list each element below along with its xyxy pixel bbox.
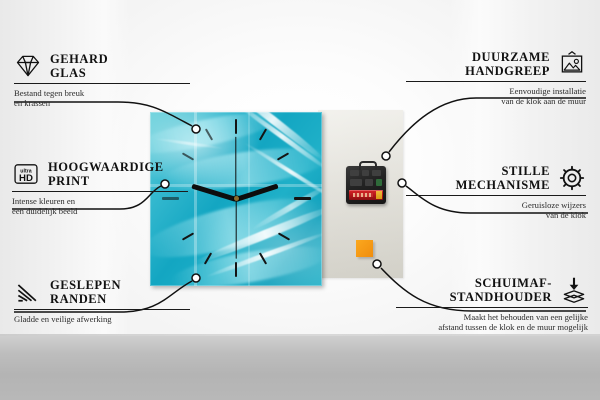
callout-geslepen-randen: GESLEPEN RANDEN Gladde en veilige afwerk… [14, 278, 190, 324]
callout-sub-line2: afstand tussen de klok en de muur mogeli… [396, 322, 588, 332]
callout-sub-line1: Geruisloze wijzers [406, 200, 586, 210]
callout-header-gehard-glas: GEHARD GLAS [14, 52, 190, 80]
hour-marker-6 [235, 262, 237, 277]
callout-header-geslepen-randen: GESLEPEN RANDEN [14, 278, 190, 306]
callout-duurzame-handgreep: DUURZAME HANDGREEP Eenvoudige installati… [406, 50, 586, 107]
callout-hoogwaardige-print: ultra HD HOOGWAARDIGE PRINT Intense kleu… [12, 160, 188, 217]
callout-title-line2: MECHANISME [456, 178, 550, 192]
callout-sub-line2: en krassen [14, 98, 190, 108]
callout-title-line1: STILLE [456, 164, 550, 178]
callout-stille-mechanisme: STILLE MECHANISME Geruisloze wijzers van… [406, 164, 586, 221]
glass-reflection-vertical [194, 112, 197, 286]
clock-mechanism-box [346, 166, 386, 204]
clock-hands-hub [234, 196, 239, 201]
second-hand [235, 199, 236, 259]
callout-sub-line1: Bestand tegen breuk [14, 88, 190, 98]
callout-title-line2: GLAS [50, 66, 108, 80]
callout-rule [14, 83, 190, 84]
callout-rule [12, 191, 188, 192]
callout-rule [14, 309, 190, 310]
ultra-hd-icon-bottom-text: HD [19, 173, 33, 184]
gear-icon [558, 164, 586, 192]
callout-title-line2: STANDHOUDER [450, 290, 552, 304]
callout-sub-line2: van de klok [406, 210, 586, 220]
callout-header-hoogwaardige-print: ultra HD HOOGWAARDIGE PRINT [12, 160, 188, 188]
foam-spacer [356, 240, 373, 257]
callout-title-line1: SCHUIMAF- [450, 276, 552, 290]
callout-header-stille-mechanisme: STILLE MECHANISME [406, 164, 586, 192]
callout-rule [396, 307, 588, 308]
ultra-hd-icon: ultra HD [12, 160, 40, 188]
callout-header-duurzame-handgreep: DUURZAME HANDGREEP [406, 50, 586, 78]
hour-marker-4 [278, 232, 290, 240]
hour-marker-12 [235, 119, 237, 134]
callout-title-line1: GESLEPEN [50, 278, 121, 292]
hanging-hook [359, 161, 377, 170]
callout-sub-line2: een duidelijk beeld [12, 206, 188, 216]
callout-sub-line1: Gladde en veilige afwerking [14, 314, 190, 324]
picture-frame-icon [558, 50, 586, 78]
stacked-spacer-arrow-icon [560, 276, 588, 304]
callout-sub-line2: van de klok aan de muur [406, 96, 586, 106]
callout-title-line2: PRINT [48, 174, 164, 188]
glass-reflection-vertical-2 [248, 112, 250, 286]
aa-battery [349, 190, 383, 200]
callout-sub-line1: Maakt het behouden van een gelijke [396, 312, 588, 322]
callout-header-schuimaf-standhouder: SCHUIMAF- STANDHOUDER [396, 276, 588, 304]
callout-gehard-glas: GEHARD GLAS Bestand tegen breuk en krass… [14, 52, 190, 109]
callout-sub-line1: Eenvoudige installatie [406, 86, 586, 96]
callout-title-line2: RANDEN [50, 292, 121, 306]
hour-marker-3 [294, 197, 311, 200]
floor-surface [0, 336, 600, 400]
diamond-icon [14, 52, 42, 80]
callout-schuimaf-standhouder: SCHUIMAF- STANDHOUDER Maakt het behouden… [396, 276, 588, 333]
infographic-canvas: GEHARD GLAS Bestand tegen breuk en krass… [0, 0, 600, 400]
callout-title-line1: DUURZAME [465, 50, 550, 64]
callout-title-line1: HOOGWAARDIGE [48, 160, 164, 174]
callout-title-line1: GEHARD [50, 52, 108, 66]
callout-rule [406, 195, 586, 196]
beveled-edges-icon [14, 278, 42, 306]
callout-rule [406, 81, 586, 82]
callout-sub-line1: Intense kleuren en [12, 196, 188, 206]
callout-title-line2: HANDGREEP [465, 64, 550, 78]
